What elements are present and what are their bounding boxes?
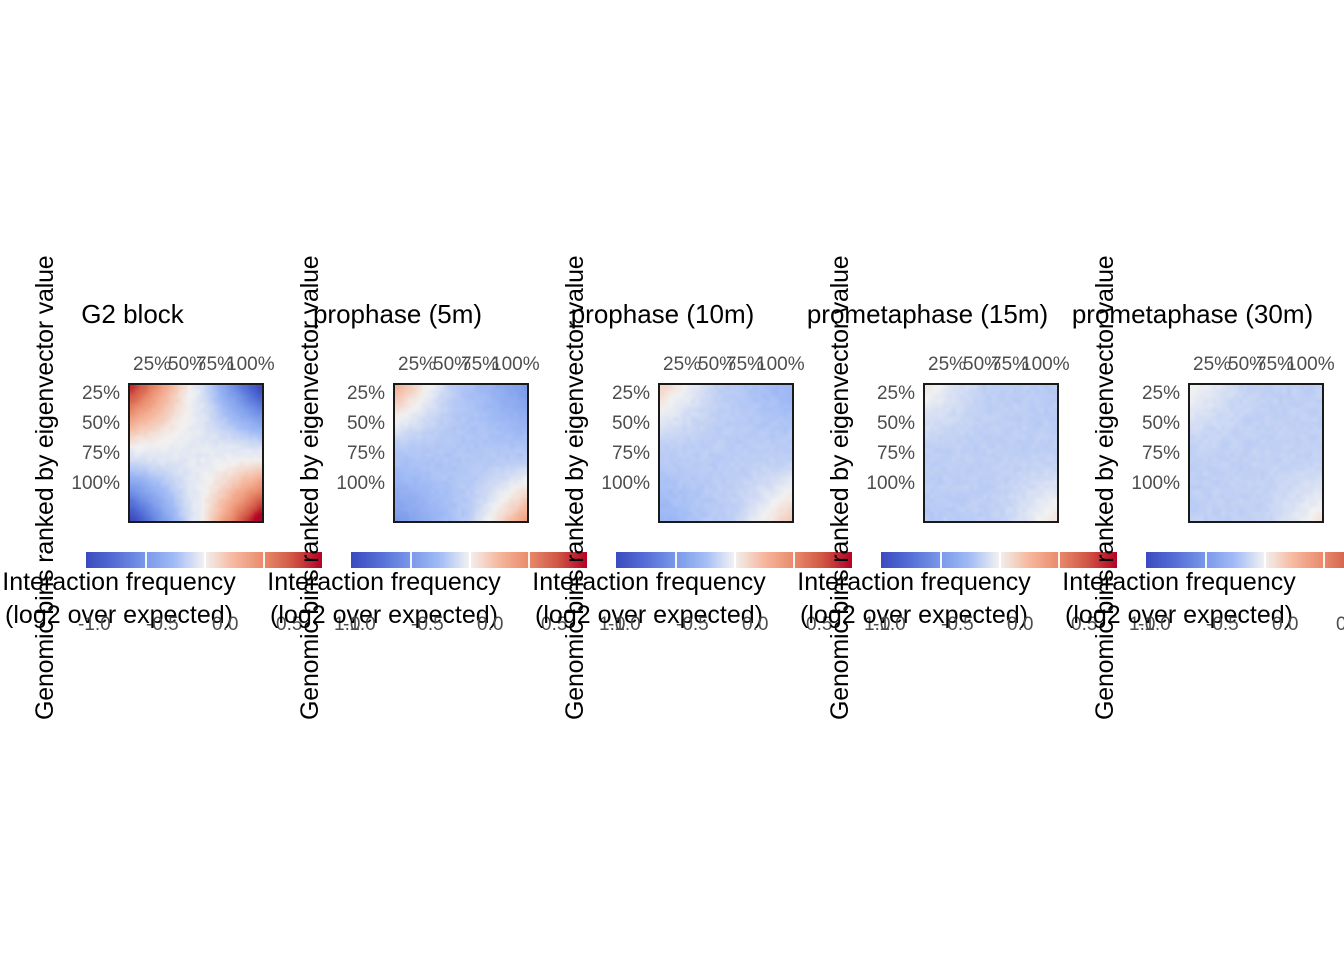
y-axis-ticks: 25%50%75%100% <box>265 383 393 525</box>
x-tick-label: 25% <box>928 352 966 378</box>
y-tick-label: 25% <box>1142 383 1180 405</box>
y-tick-label: 25% <box>82 383 120 405</box>
y-axis-ticks: 25%50%75%100% <box>795 383 923 525</box>
y-tick-label: 100% <box>336 473 385 495</box>
y-tick-label: 75% <box>612 443 650 465</box>
y-tick-label: 25% <box>612 383 650 405</box>
colorbar-tick-label: -0.5 <box>1206 612 1239 638</box>
y-tick-label: 25% <box>347 383 385 405</box>
saddle-heatmap <box>1188 383 1324 523</box>
x-axis-ticks: 25%50%75%100% <box>1060 352 1325 378</box>
saddle-heatmap <box>393 383 529 523</box>
heatmap-raster <box>925 385 1057 521</box>
y-tick-label: 100% <box>1131 473 1180 495</box>
facet-panel: Genomic bins ranked by eigenvector value… <box>530 0 795 960</box>
heatmap-raster <box>1190 385 1322 521</box>
x-tick-label: 100% <box>1286 352 1335 378</box>
x-tick-label: 25% <box>1193 352 1231 378</box>
y-tick-label: 50% <box>612 413 650 435</box>
panel-title: prophase (5m) <box>265 299 530 329</box>
x-axis-ticks: 25%50%75%100% <box>0 352 265 378</box>
y-tick-label: 75% <box>82 443 120 465</box>
y-tick-label: 50% <box>82 413 120 435</box>
heatmap-raster <box>130 385 262 521</box>
saddle-heatmap <box>658 383 794 523</box>
y-axis-ticks: 25%50%75%100% <box>530 383 658 525</box>
colorbar-ticks: -1.0-0.50.00.51.0 <box>1146 612 1344 638</box>
saddle-heatmap <box>128 383 264 523</box>
colorbar-tick-label: -1.0 <box>873 612 906 638</box>
panel-title: prometaphase (15m) <box>795 299 1060 329</box>
facet-panel: Genomic bins ranked by eigenvector value… <box>0 0 265 960</box>
saddle-heatmap <box>923 383 1059 523</box>
panel-title: G2 block <box>0 299 265 329</box>
x-axis-ticks: 25%50%75%100% <box>265 352 530 378</box>
heatmap-raster <box>395 385 527 521</box>
colorbar-tick-label: -1.0 <box>78 612 111 638</box>
y-tick-label: 75% <box>1142 443 1180 465</box>
facet-panel: Genomic bins ranked by eigenvector value… <box>265 0 530 960</box>
y-tick-label: 100% <box>866 473 915 495</box>
panel-title: prophase (10m) <box>530 299 795 329</box>
colorbar-tick-label: -1.0 <box>343 612 376 638</box>
y-tick-label: 50% <box>1142 413 1180 435</box>
panel-title: prometaphase (30m) <box>1060 299 1325 329</box>
x-tick-label: 25% <box>133 352 171 378</box>
heatmap-raster <box>660 385 792 521</box>
colorbar-tick-label: 0.5 <box>1336 612 1344 638</box>
x-axis-ticks: 25%50%75%100% <box>530 352 795 378</box>
colorbar-tick-label: -1.0 <box>1138 612 1171 638</box>
colorbar-tick-label: 0.0 <box>1272 612 1298 638</box>
facet-panel: Genomic bins ranked by eigenvector value… <box>795 0 1060 960</box>
y-tick-label: 100% <box>601 473 650 495</box>
colorbar-tick-label: -1.0 <box>608 612 641 638</box>
facet-panel: Genomic bins ranked by eigenvector value… <box>1060 0 1325 960</box>
x-tick-label: 25% <box>398 352 436 378</box>
y-tick-label: 50% <box>877 413 915 435</box>
y-tick-label: 25% <box>877 383 915 405</box>
y-axis-ticks: 25%50%75%100% <box>0 383 128 525</box>
y-tick-label: 50% <box>347 413 385 435</box>
x-tick-label: 25% <box>663 352 701 378</box>
figure-canvas: Genomic bins ranked by eigenvector value… <box>0 0 1344 960</box>
colorbar-title-line1: Interaction frequency <box>934 566 1344 599</box>
x-axis-ticks: 25%50%75%100% <box>795 352 1060 378</box>
y-tick-label: 75% <box>877 443 915 465</box>
y-tick-label: 75% <box>347 443 385 465</box>
y-tick-label: 100% <box>71 473 120 495</box>
y-axis-ticks: 25%50%75%100% <box>1060 383 1188 525</box>
